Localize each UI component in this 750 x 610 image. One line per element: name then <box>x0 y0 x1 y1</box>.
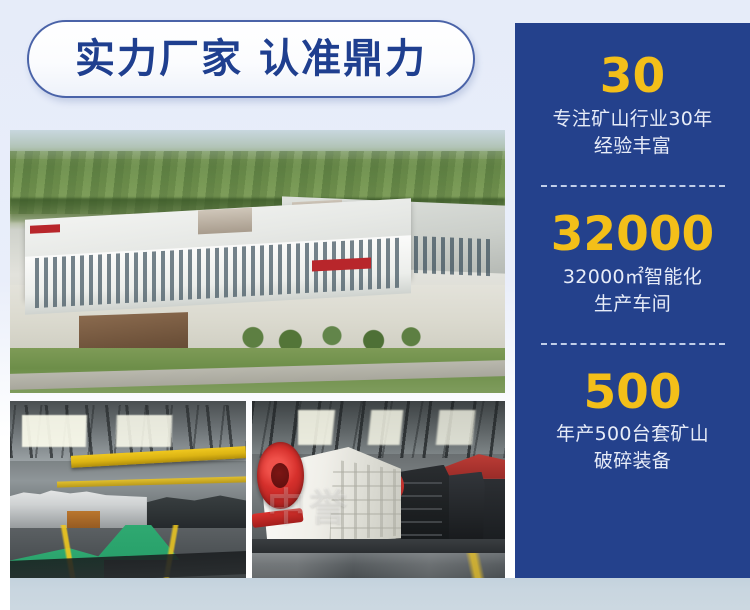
bottom-edge-strip <box>0 578 750 610</box>
stat-block-years: 30 专注矿山行业30年 经验丰富 <box>515 52 750 160</box>
stat-description-years: 专注矿山行业30年 经验丰富 <box>525 106 740 160</box>
headline-text: 实力厂家 认准鼎力 <box>75 39 427 79</box>
stat-desc-line-1: 年产500台套矿山 <box>525 421 740 448</box>
promotional-banner: 实力厂家 认准鼎力 <box>0 0 750 610</box>
stat-desc-line-1: 32000㎡智能化 <box>525 264 740 291</box>
stat-block-output: 500 年产500台套矿山 破碎装备 <box>515 368 750 476</box>
stat-separator <box>541 185 725 187</box>
stat-separator <box>541 343 725 345</box>
workshop-overhead-crane-rail <box>57 476 246 487</box>
stat-desc-line-2: 破碎装备 <box>525 448 740 475</box>
crusher-unit-bolt-rows <box>399 475 442 535</box>
crusher-floor-safety-line <box>444 553 505 578</box>
crusher-unit-black-mid <box>444 472 484 543</box>
stat-number-years: 30 <box>525 52 740 102</box>
stat-description-output: 年产500台套矿山 破碎装备 <box>525 421 740 475</box>
aerial-building-sign-secondary <box>30 224 60 233</box>
stat-desc-line-2: 经验丰富 <box>525 133 740 160</box>
photo-aerial-factory-complex <box>10 130 505 393</box>
stat-block-area: 32000 32000㎡智能化 生产车间 <box>515 210 750 318</box>
photo-crusher-production-line: 中誉 <box>252 401 505 578</box>
crusher-flywheel-hub <box>271 463 289 488</box>
aerial-roof-penthouse <box>198 207 252 234</box>
stat-desc-line-2: 生产车间 <box>525 291 740 318</box>
stats-panel: 30 专注矿山行业30年 经验丰富 32000 32000㎡智能化 生产车间 5… <box>515 23 750 578</box>
stat-desc-line-1: 专注矿山行业30年 <box>525 106 740 133</box>
crusher-hall-lights <box>298 410 495 445</box>
photo-workshop-interior <box>10 401 246 578</box>
stat-number-output: 500 <box>525 368 740 418</box>
workshop-ceiling-lights <box>22 415 234 447</box>
stat-number-area: 32000 <box>525 210 740 260</box>
headline-pill: 实力厂家 认准鼎力 <box>27 20 475 98</box>
bottom-edge-left-margin <box>0 578 10 610</box>
stat-description-area: 32000㎡智能化 生产车间 <box>525 264 740 318</box>
